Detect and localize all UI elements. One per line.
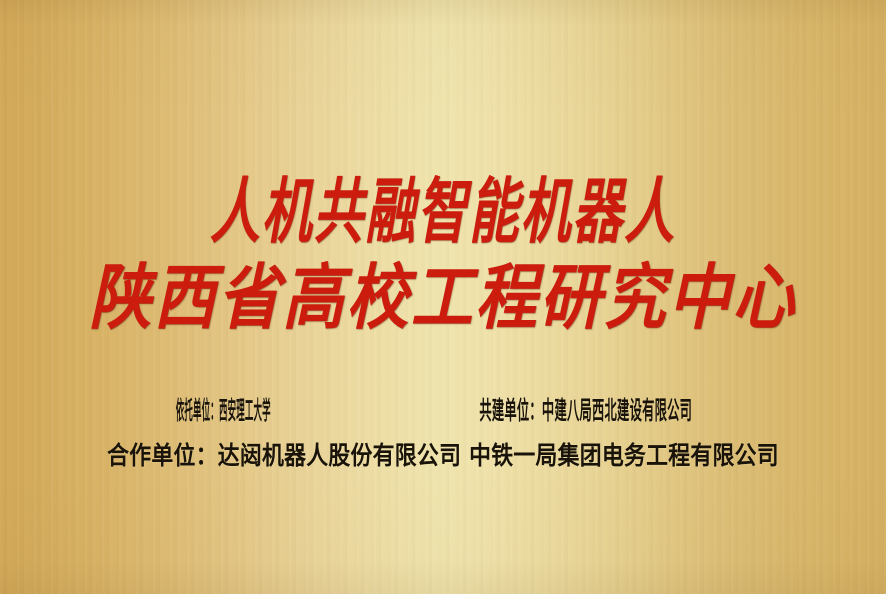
plaque-title-line-1: 人机共融智能机器人 (210, 168, 676, 254)
plaque-content: 人机共融智能机器人 陕西省高校工程研究中心 依托单位：西安理工大学 共建单位：中… (0, 0, 886, 594)
plaque-title: 人机共融智能机器人 陕西省高校工程研究中心 (0, 168, 886, 340)
credit-partner-institutions: 合作单位：达闼机器人股份有限公司 中铁一局集团电务工程有限公司 (107, 433, 779, 478)
plaque-title-line-2: 陕西省高校工程研究中心 (89, 254, 796, 340)
award-plaque: 人机共融智能机器人 陕西省高校工程研究中心 依托单位：西安理工大学 共建单位：中… (0, 0, 886, 594)
plaque-credits: 依托单位：西安理工大学 共建单位：中建八局西北建设有限公司 合作单位：达闼机器人… (0, 388, 886, 478)
credit-host-institution: 依托单位：西安理工大学 (176, 388, 271, 433)
credit-co-builder-institution: 共建单位：中建八局西北建设有限公司 (479, 388, 692, 433)
